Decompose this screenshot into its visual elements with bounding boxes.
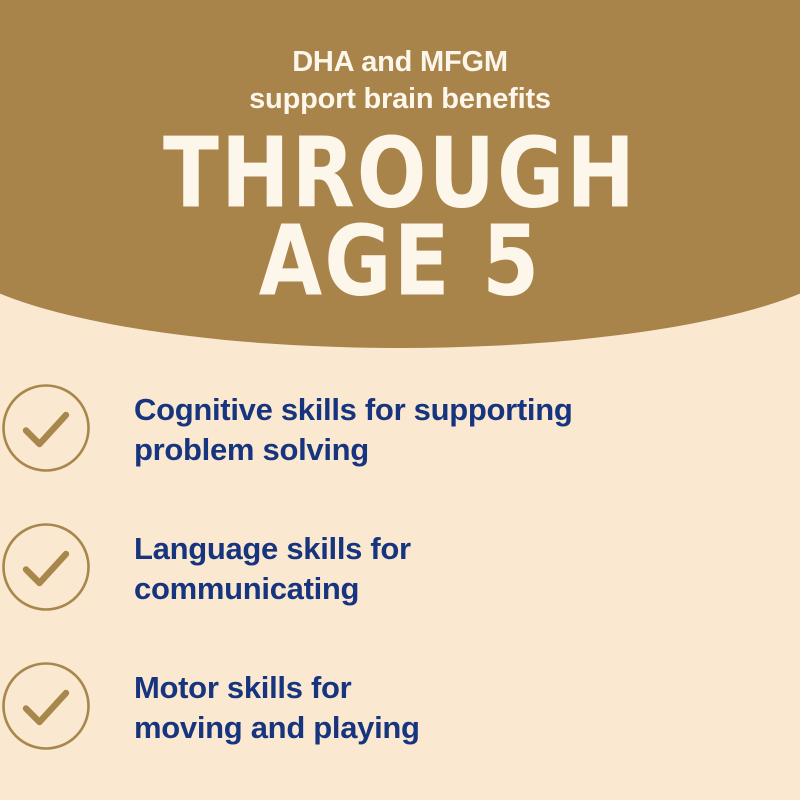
headline-line-2: AGE 5 xyxy=(0,220,800,305)
header-content: DHA and MFGM support brain benefits THRO… xyxy=(0,0,800,293)
display-headline: THROUGH AGE 5 xyxy=(0,132,800,292)
benefit-item: Cognitive skills for supporting problem … xyxy=(0,382,800,521)
eyebrow-text: DHA and MFGM support brain benefits xyxy=(0,44,800,118)
benefit-text-line-1: Motor skills for xyxy=(134,668,654,708)
benefit-text: Language skills for communicating xyxy=(134,529,654,610)
benefits-list: Cognitive skills for supporting problem … xyxy=(0,382,800,799)
eyebrow-line-1: DHA and MFGM xyxy=(0,44,800,81)
eyebrow-line-2: support brain benefits xyxy=(0,81,800,118)
benefit-text-line-2: moving and playing xyxy=(134,708,654,748)
check-circle-icon xyxy=(0,660,92,752)
benefit-item: Motor skills for moving and playing xyxy=(0,660,800,799)
benefit-text-line-2: problem solving xyxy=(134,430,654,470)
headline-line-1: THROUGH xyxy=(0,132,800,217)
benefit-text-line-1: Cognitive skills for supporting xyxy=(134,390,654,430)
benefit-text: Cognitive skills for supporting problem … xyxy=(134,390,654,471)
benefit-text-line-1: Language skills for xyxy=(134,529,654,569)
check-circle-icon xyxy=(0,521,92,613)
promo-poster: DHA and MFGM support brain benefits THRO… xyxy=(0,0,800,800)
check-circle-icon xyxy=(0,382,92,474)
benefit-item: Language skills for communicating xyxy=(0,521,800,660)
benefit-text: Motor skills for moving and playing xyxy=(134,668,654,749)
benefit-text-line-2: communicating xyxy=(134,569,654,609)
